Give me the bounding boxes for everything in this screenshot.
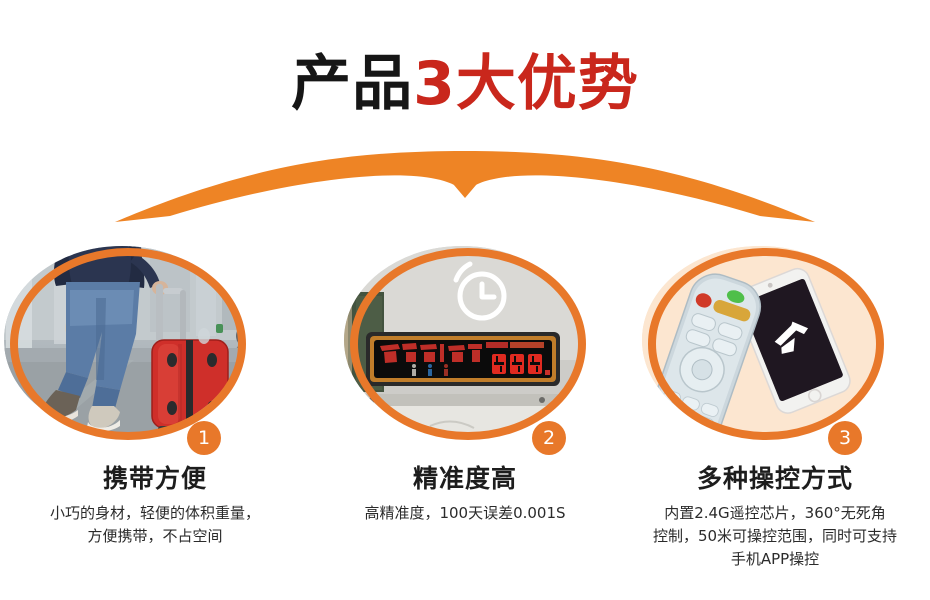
features-row: 1 携带方便 小巧的身材，轻便的体积重量， 方便携带，不占空间 — [0, 240, 930, 600]
feature-card-3[interactable]: 3 多种操控方式 内置2.4G遥控芯片，360°无死角 控制，50米可操控范围，… — [620, 240, 930, 600]
promo-page: 产品3大优势 — [0, 0, 930, 600]
feature-3-badge: 3 — [828, 421, 862, 455]
feature-card-1[interactable]: 1 携带方便 小巧的身材，轻便的体积重量， 方便携带，不占空间 — [0, 240, 310, 600]
feature-1-body: 小巧的身材，轻便的体积重量， 方便携带，不占空间 — [5, 502, 305, 548]
feature-3-heading: 多种操控方式 — [620, 462, 930, 496]
feature-1-body-line2: 方便携带，不占空间 — [5, 525, 305, 548]
feature-1-body-line1: 小巧的身材，轻便的体积重量， — [5, 502, 305, 525]
orange-arc-divider — [0, 150, 930, 235]
feature-2-badge: 2 — [532, 421, 566, 455]
page-title: 产品3大优势 — [0, 48, 930, 120]
feature-3-body-line1: 内置2.4G遥控芯片，360°无死角 — [620, 502, 930, 525]
feature-2-body-line1: 高精准度，100天误差0.001S — [315, 502, 615, 525]
feature-3-image — [620, 240, 930, 456]
feature-3-body-line3: 手机APP操控 — [620, 548, 930, 571]
page-title-red-part: 3大优势 — [413, 49, 639, 119]
feature-2-image — [310, 240, 620, 456]
feature-2-heading: 精准度高 — [310, 462, 620, 496]
suitcase-photo — [0, 240, 310, 456]
feature-1-heading: 携带方便 — [0, 462, 310, 496]
feature-1-image — [0, 240, 310, 456]
feature-card-2[interactable]: 2 精准度高 高精准度，100天误差0.001S — [310, 240, 620, 600]
feature-3-body: 内置2.4G遥控芯片，360°无死角 控制，50米可操控范围，同时可支持 手机A… — [620, 502, 930, 571]
feature-3-body-line2: 控制，50米可操控范围，同时可支持 — [620, 525, 930, 548]
page-title-black-part: 产品 — [291, 49, 413, 119]
feature-2-body: 高精准度，100天误差0.001S — [315, 502, 615, 525]
feature-1-badge: 1 — [187, 421, 221, 455]
